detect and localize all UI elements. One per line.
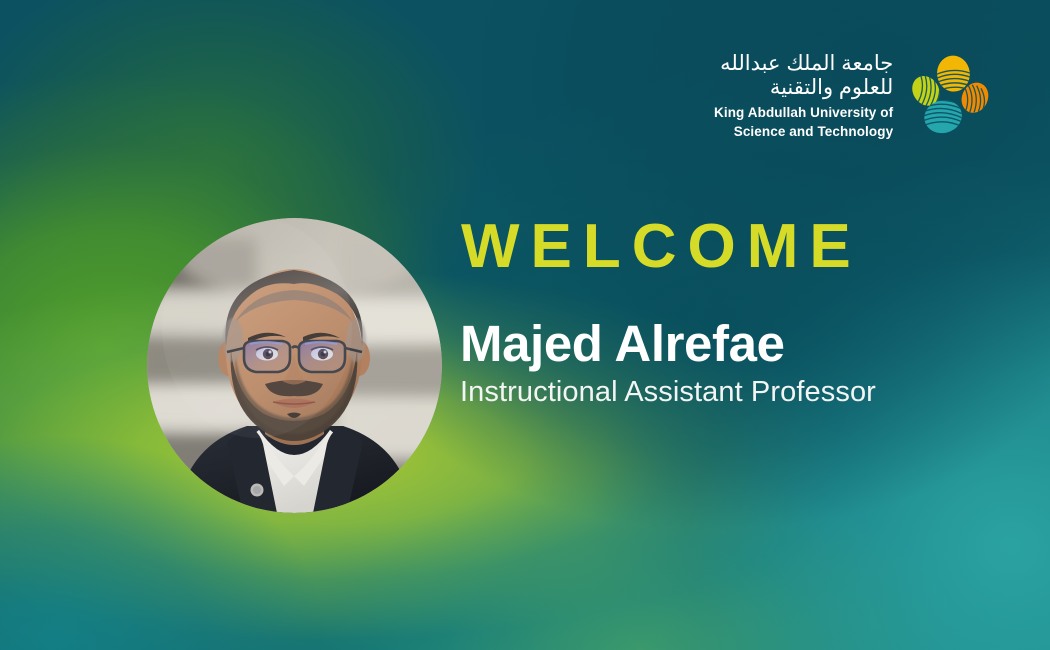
logo-arabic-line-2: للعلوم والتقنية: [714, 76, 893, 100]
logo-english-line-2: Science and Technology: [714, 124, 893, 140]
kaust-logo: جامعة الملك عبدالله للعلوم والتقنية King…: [714, 52, 993, 140]
person-name: Majed Alrefae: [460, 318, 785, 369]
welcome-banner: جامعة الملك عبدالله للعلوم والتقنية King…: [0, 0, 1050, 650]
logo-arabic-line-1: جامعة الملك عبدالله: [714, 52, 893, 76]
kaust-four-petal-mark-icon: [907, 53, 993, 139]
portrait-photo: [147, 218, 442, 513]
logo-wordmark: جامعة الملك عبدالله للعلوم والتقنية King…: [714, 52, 893, 140]
portrait-image: [147, 218, 442, 513]
logo-english-line-1: King Abdullah University of: [714, 105, 893, 121]
person-title: Instructional Assistant Professor: [460, 378, 876, 407]
welcome-headline: WELCOME: [461, 216, 862, 278]
